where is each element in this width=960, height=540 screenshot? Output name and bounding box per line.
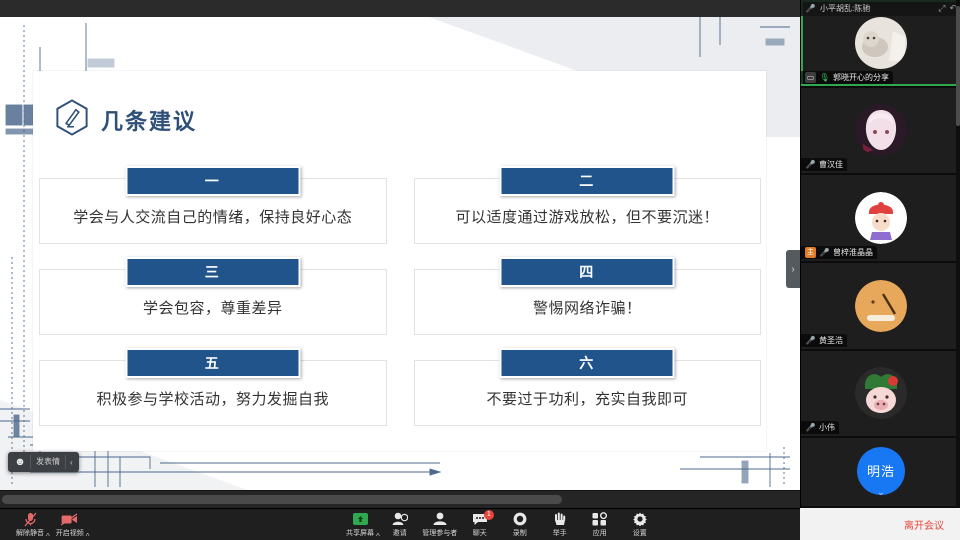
toolbar-label: 设置 bbox=[633, 528, 647, 538]
avatar bbox=[855, 17, 907, 69]
suggestion-text: 警惕网络诈骗！ bbox=[533, 297, 642, 318]
tile-namebar: 主 🎤 曾梓淮晶晶 bbox=[801, 246, 877, 259]
suggestion-badge: 六 bbox=[500, 348, 675, 378]
avatar bbox=[855, 192, 907, 244]
participant-filmstrip: 🎤 小平胡乱:陈驰 ⤢ ↶ ▭ 🎙 bbox=[800, 0, 960, 508]
toggle-mute-button[interactable]: 解除静音 bbox=[10, 509, 50, 540]
participant-name: 曾梓淮晶晶 bbox=[833, 247, 873, 258]
suggestion-badge: 四 bbox=[500, 257, 675, 287]
toolbar-label: 聊天 bbox=[473, 528, 487, 538]
shared-content-area: 几条建议 学会与人交流自己的情绪，保持良好心态 一 可以适度通过游戏放松，但不要… bbox=[0, 0, 800, 508]
tile-topbar: 🎤 小平胡乱:陈驰 ⤢ ↶ bbox=[801, 0, 960, 16]
hscrollbar-thumb[interactable] bbox=[2, 495, 562, 504]
mic-off-icon: 🎤 bbox=[805, 335, 816, 346]
suggestion-text: 积极参与学校活动，努力发掘自我 bbox=[96, 388, 329, 409]
mic-off-icon: 🎤 bbox=[805, 3, 816, 14]
record-button[interactable]: 录制 bbox=[500, 509, 540, 540]
slide-title-row: 几条建议 bbox=[55, 99, 197, 141]
hexagon-pen-icon bbox=[55, 99, 89, 141]
raise-hand-button[interactable]: 举手 bbox=[540, 509, 580, 540]
smiley-icon[interactable]: ☻ bbox=[10, 453, 30, 471]
tile-namebar: ▭ 🎙 郭晓开心的分享 bbox=[801, 71, 893, 84]
toolbar-label: 录制 bbox=[513, 528, 527, 538]
toolbar-center-group: 共享屏幕 ^ 邀请 bbox=[340, 509, 660, 540]
self-participant-tile[interactable]: 明浩 ⌄ bbox=[801, 438, 960, 508]
tile-namebar: 🎤 黄圣浩 bbox=[801, 334, 847, 347]
participant-tile[interactable]: 🎤 曹汉佳 bbox=[801, 88, 960, 176]
participant-name: 郭晓开心的分享 bbox=[833, 72, 889, 83]
toggle-video-button[interactable]: 开启视频 bbox=[50, 509, 90, 540]
filmstrip-scrollbar-thumb[interactable] bbox=[956, 6, 960, 126]
suggestion-card: 可以适度通过游戏放松，但不要沉迷！ 二 bbox=[414, 166, 762, 257]
host-badge-icon: 主 bbox=[805, 247, 816, 258]
suggestion-text: 可以适度通过游戏放松，但不要沉迷！ bbox=[455, 206, 719, 227]
meeting-window: 几条建议 学会与人交流自己的情绪，保持良好心态 一 可以适度通过游戏放松，但不要… bbox=[0, 0, 960, 540]
shared-content-hscrollbar[interactable] bbox=[0, 490, 800, 508]
reaction-label[interactable]: 发表情 bbox=[30, 455, 66, 469]
mic-muted-icon bbox=[24, 511, 37, 527]
invite-button[interactable]: 邀请 bbox=[380, 509, 420, 540]
toolbar-label: 邀请 bbox=[393, 528, 407, 538]
chat-button[interactable]: 1 聊天 bbox=[460, 509, 500, 540]
settings-button[interactable]: 设置 bbox=[620, 509, 660, 540]
toolbar-label: 应用 bbox=[593, 528, 607, 538]
mic-off-icon: 🎤 bbox=[805, 422, 816, 433]
toolbar-label: 举手 bbox=[553, 528, 567, 538]
suggestion-card-grid: 学会与人交流自己的情绪，保持良好心态 一 可以适度通过游戏放松，但不要沉迷！ 二… bbox=[39, 166, 761, 439]
share-screen-button[interactable]: 共享屏幕 bbox=[340, 509, 380, 540]
screen-share-icon bbox=[353, 511, 368, 527]
tile-namebar: 🎤 小伟 bbox=[801, 421, 839, 434]
chevron-right-icon: › bbox=[791, 264, 794, 275]
participant-name: 小伟 bbox=[819, 422, 835, 433]
suggestion-badge: 二 bbox=[500, 166, 675, 196]
participant-tile[interactable]: 🎤 小伟 bbox=[801, 351, 960, 439]
suggestion-badge: 五 bbox=[125, 348, 300, 378]
video-off-icon bbox=[61, 511, 78, 527]
chevron-down-icon[interactable]: ⌄ bbox=[877, 487, 885, 498]
gear-icon bbox=[633, 511, 647, 527]
suggestion-text: 学会与人交流自己的情绪，保持良好心态 bbox=[73, 206, 352, 227]
slide-title: 几条建议 bbox=[101, 104, 197, 136]
avatar bbox=[855, 104, 907, 156]
apps-button[interactable]: 应用 bbox=[580, 509, 620, 540]
suggestion-card: 学会与人交流自己的情绪，保持良好心态 一 bbox=[39, 166, 387, 257]
tile-namebar: 🎤 曹汉佳 bbox=[801, 158, 847, 171]
suggestion-card: 积极参与学校活动，努力发掘自我 五 bbox=[39, 348, 387, 439]
leave-button-area: 离开会议 bbox=[800, 508, 960, 540]
toolbar-label: 共享屏幕 bbox=[346, 528, 374, 538]
presentation-slide: 几条建议 学会与人交流自己的情绪，保持良好心态 一 可以适度通过游戏放松，但不要… bbox=[0, 17, 800, 490]
suggestion-badge: 三 bbox=[125, 257, 300, 287]
toolbar-left-group: 解除静音 ^ 开启视频 ^ bbox=[10, 509, 90, 540]
avatar bbox=[855, 280, 907, 332]
mic-on-icon: 🎙 bbox=[819, 72, 830, 83]
participants-icon bbox=[432, 511, 448, 527]
toolbar-label: 解除静音 bbox=[16, 528, 44, 538]
apps-icon bbox=[592, 511, 607, 527]
participant-name: 曹汉佳 bbox=[819, 159, 843, 170]
toolbar-label: 管理参与者 bbox=[422, 528, 457, 538]
participant-tile[interactable]: 🎤 黄圣浩 bbox=[801, 263, 960, 351]
suggestion-badge: 一 bbox=[125, 166, 300, 196]
manage-participants-button[interactable]: 管理参与者 bbox=[420, 509, 460, 540]
mic-off-icon: 🎤 bbox=[819, 247, 830, 258]
meeting-toolbar: 解除静音 ^ 开启视频 ^ 共享屏幕 bbox=[0, 508, 960, 540]
mic-off-icon: 🎤 bbox=[805, 159, 816, 170]
chat-unread-badge: 1 bbox=[484, 510, 494, 520]
collapse-shared-panel-button[interactable]: › bbox=[786, 250, 800, 288]
screen-share-icon: ▭ bbox=[805, 72, 816, 83]
suggestion-text: 不要过于功利，充实自我即可 bbox=[486, 388, 688, 409]
participant-tile[interactable]: 主 🎤 曾梓淮晶晶 bbox=[801, 175, 960, 263]
suggestion-text: 学会包容，尊重差异 bbox=[143, 297, 283, 318]
leave-meeting-button[interactable]: 离开会议 bbox=[898, 515, 950, 534]
toolbar-label: 开启视频 bbox=[56, 528, 84, 538]
avatar bbox=[855, 367, 907, 419]
slide-inner-card: 几条建议 学会与人交流自己的情绪，保持良好心态 一 可以适度通过游戏放松，但不要… bbox=[33, 71, 766, 451]
raise-hand-icon bbox=[553, 511, 566, 527]
suggestion-card: 不要过于功利，充实自我即可 六 bbox=[414, 348, 762, 439]
suggestion-card: 警惕网络诈骗！ 四 bbox=[414, 257, 762, 348]
filmstrip-scrollbar[interactable] bbox=[956, 0, 960, 508]
tile-top-name: 小平胡乱:陈驰 bbox=[820, 3, 870, 14]
suggestion-card: 学会包容，尊重差异 三 bbox=[39, 257, 387, 348]
invite-icon bbox=[392, 511, 408, 527]
record-icon bbox=[513, 511, 527, 527]
participant-tile[interactable]: 🎤 小平胡乱:陈驰 ⤢ ↶ ▭ 🎙 bbox=[801, 0, 960, 88]
chevron-left-icon[interactable]: ‹ bbox=[66, 458, 77, 467]
reaction-toolbar[interactable]: ☻ 发表情 ‹ bbox=[8, 452, 79, 472]
participant-name: 黄圣浩 bbox=[819, 335, 843, 346]
pin-icon[interactable]: ⤢ bbox=[938, 3, 945, 14]
